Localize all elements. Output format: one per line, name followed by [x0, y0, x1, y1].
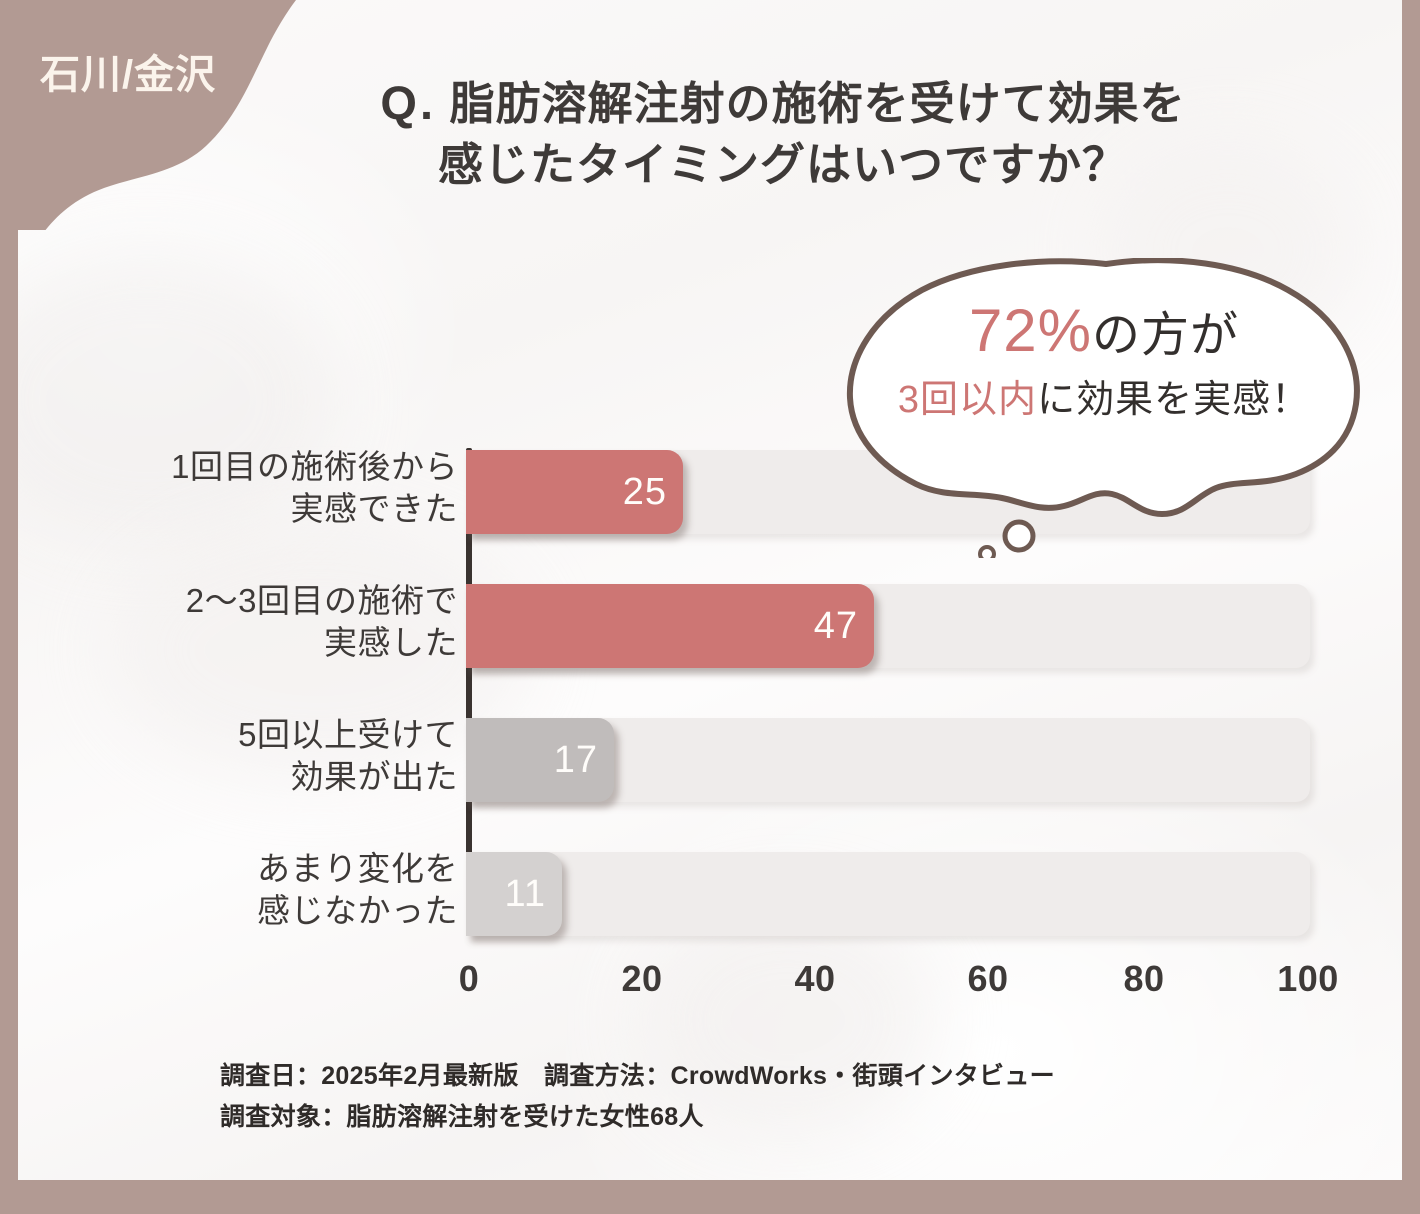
- x-tick-label: 60: [967, 958, 1008, 1000]
- survey-footnote-line-1: 調査日：2025年2月最新版 調査方法：CrowdWorks・街頭インタビュー: [220, 1056, 1280, 1097]
- x-axis-ticks: 0 20 40 60 80 100: [18, 958, 1402, 1018]
- category-label: あまり変化を 感じなかった: [58, 848, 458, 932]
- bar-value: 11: [466, 852, 562, 936]
- callout-line-1-rest: の方が: [1092, 309, 1239, 362]
- bar-value: 25: [466, 450, 683, 534]
- bar-value-label: 11: [505, 873, 546, 916]
- survey-footnote: 調査日：2025年2月最新版 調査方法：CrowdWorks・街頭インタビュー …: [220, 1056, 1280, 1137]
- x-tick-label: 80: [1123, 958, 1164, 1000]
- callout-sessions: 3回以内: [898, 379, 1037, 421]
- x-tick-label: 100: [1277, 958, 1339, 1000]
- poster-canvas: 石川/金沢 Q. 脂肪溶解注射の施術を受けて効果を 感じたタイミングはいつですか…: [18, 0, 1402, 1180]
- bar-value-label: 25: [623, 471, 667, 514]
- callout-line-2: 3回以内に効果を実感！: [844, 377, 1364, 423]
- survey-footnote-line-2: 調査対象：脂肪溶解注射を受けた女性68人: [220, 1097, 1280, 1138]
- callout-text: 72%の方が 3回以内に効果を実感！: [844, 294, 1364, 424]
- category-label: 2〜3回目の施術で 実感した: [58, 580, 458, 664]
- bar-chart: 1回目の施術後から 実感できた 25 2〜3回目の施術で 実感した 47 5回以…: [18, 0, 1402, 1180]
- callout-line-1: 72%の方が: [844, 294, 1364, 367]
- x-tick-label: 0: [459, 958, 480, 1000]
- bar-value: 47: [466, 584, 874, 668]
- callout-bubble: 72%の方が 3回以内に効果を実感！: [844, 258, 1364, 558]
- bar-value: 17: [466, 718, 614, 802]
- callout-percent: 72%: [969, 297, 1092, 364]
- x-tick-label: 20: [621, 958, 662, 1000]
- category-label: 5回以上受けて 効果が出た: [58, 714, 458, 798]
- category-label: 1回目の施術後から 実感できた: [58, 446, 458, 530]
- callout-line-2-rest: に効果を実感！: [1037, 379, 1310, 421]
- bar-value-label: 17: [554, 739, 598, 782]
- bar-track: [466, 852, 1310, 936]
- bar-value-label: 47: [814, 605, 858, 648]
- x-tick-label: 40: [794, 958, 835, 1000]
